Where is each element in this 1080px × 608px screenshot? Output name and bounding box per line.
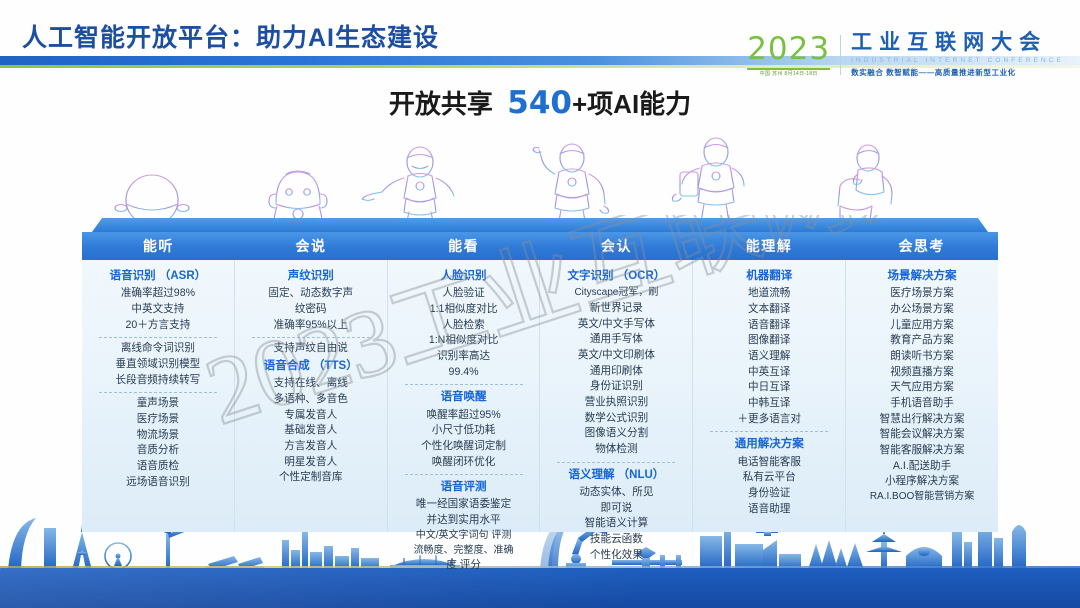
group-separator xyxy=(405,384,523,385)
capability-item[interactable]: 长段音频持续转写 xyxy=(116,373,201,389)
capability-item[interactable]: 中日互译 xyxy=(748,380,790,396)
capability-item[interactable]: 准确率超过98% xyxy=(121,286,195,302)
robot-6 xyxy=(832,145,892,228)
group-title: 场景解决方案 xyxy=(888,268,957,285)
capability-item[interactable]: 音质分析 xyxy=(137,443,179,459)
table-header-6[interactable]: 会思考 xyxy=(845,232,998,260)
capability-item[interactable]: 智能会议解决方案 xyxy=(880,427,965,443)
robot-5 xyxy=(672,138,744,228)
group-separator xyxy=(405,474,523,475)
capability-item[interactable]: 医疗场景 xyxy=(137,412,179,428)
capability-item[interactable]: 智能语义计算 xyxy=(585,516,649,532)
table-header-5[interactable]: 能理解 xyxy=(693,232,846,260)
group-separator xyxy=(99,392,217,393)
group-title: 语音评测 xyxy=(441,479,487,496)
capability-item[interactable]: 医疗场景方案 xyxy=(890,286,954,302)
capability-item[interactable]: 明星发音人 xyxy=(284,455,337,471)
group-separator xyxy=(710,431,828,432)
capability-item[interactable]: 中英文支持 xyxy=(131,302,184,318)
footer-band xyxy=(0,568,1080,608)
capability-item[interactable]: 固定、动态数字声 xyxy=(268,286,353,302)
group-title: 语音合成 （TTS） xyxy=(264,358,358,375)
capability-item[interactable]: 物流场景 xyxy=(137,428,179,444)
table-header-2[interactable]: 会说 xyxy=(235,232,388,260)
table-header-1[interactable]: 能听 xyxy=(82,232,235,260)
capability-item[interactable]: 办公场景方案 xyxy=(890,302,954,318)
page-title: 人工智能开放平台：助力AI生态建设 xyxy=(22,18,439,54)
capability-item[interactable]: 通用手写体 xyxy=(590,332,643,348)
capability-item[interactable]: RA.I.BOO智能营销方案 xyxy=(870,490,974,505)
table-header-row: 能听会说能看会认能理解会思考 xyxy=(82,232,998,260)
capability-item[interactable]: 个性化唤醒词定制 xyxy=(421,439,506,455)
capability-item[interactable]: 纹密码 xyxy=(295,302,327,318)
capability-item[interactable]: 唤醒率超过95% xyxy=(426,408,500,424)
capability-item[interactable]: 语音质检 xyxy=(137,459,179,475)
footer-sheen xyxy=(0,568,1080,608)
group-separator xyxy=(252,337,370,338)
capability-item[interactable]: 文本翻译 xyxy=(748,302,790,318)
capability-item[interactable]: 身份验证 xyxy=(748,486,790,502)
capability-item[interactable]: 图像翻译 xyxy=(748,333,790,349)
table-column-2: 声纹识别固定、动态数字声纹密码准确率95%以上支持声纹自由说语音合成 （TTS）… xyxy=(235,260,388,532)
capability-item[interactable]: 私有云平台 xyxy=(743,470,796,486)
capability-item[interactable]: 中文/英文字词句 评测 xyxy=(416,529,512,544)
capability-item[interactable]: 地道流畅 xyxy=(748,286,790,302)
capability-item[interactable]: 营业执照识别 xyxy=(585,395,649,411)
capability-item[interactable]: 智能客服解决方案 xyxy=(880,443,965,459)
logo-year-text: 2023 xyxy=(747,34,830,65)
capability-item[interactable]: 朗读听书方案 xyxy=(890,349,954,365)
robot-illustrations xyxy=(0,104,1080,228)
capability-item[interactable]: 即可说 xyxy=(601,501,633,517)
capability-item[interactable]: 手机语音助手 xyxy=(890,396,954,412)
group-title: 文字识别 （OCR） xyxy=(568,268,666,285)
capability-item[interactable]: 童声场景 xyxy=(137,396,179,412)
slide-canvas: 人工智能开放平台：助力AI生态建设 2023 中国·苏州 8月14日-18日 工… xyxy=(0,0,1080,608)
capability-item[interactable]: 多语种、多音色 xyxy=(274,392,348,408)
capability-item[interactable]: 并达到实用水平 xyxy=(426,513,500,529)
logo-name-cn: 工业互联网大会 xyxy=(851,32,1064,54)
group-separator xyxy=(557,462,675,463)
capability-item[interactable]: 度 评分 xyxy=(446,558,481,574)
capability-item[interactable]: 专属发音人 xyxy=(284,408,337,424)
capability-item[interactable]: 小程序解决方案 xyxy=(885,474,959,490)
capability-item[interactable]: 1:1相似度对比 xyxy=(430,302,498,318)
capability-item[interactable]: 中韩互译 xyxy=(748,396,790,412)
capability-item[interactable]: 身份证识别 xyxy=(590,379,643,395)
group-title: 语音识别 （ASR） xyxy=(110,268,206,285)
robot-2 xyxy=(269,171,327,226)
logo-name-block: 工业互联网大会 INDUSTRIAL INTERNET CONFERENCE 数… xyxy=(851,32,1064,78)
capability-item[interactable]: 视频直播方案 xyxy=(890,365,954,381)
table-top-deck xyxy=(92,218,988,232)
capability-item[interactable]: 技能云函数 xyxy=(590,532,643,548)
robot-3 xyxy=(362,147,454,228)
capability-item[interactable]: 个性化效果 xyxy=(590,548,643,564)
robot-4 xyxy=(533,144,609,228)
capability-item[interactable]: 1:N相似度对比 xyxy=(429,333,498,349)
capability-item[interactable]: 语音助理 xyxy=(748,502,790,518)
robots-svg xyxy=(0,104,1080,228)
table-column-1: 语音识别 （ASR）准确率超过98%中英文支持20＋方言支持离线命令词识别垂直领… xyxy=(82,260,235,532)
capability-item[interactable]: 支持在线、离线 xyxy=(274,376,348,392)
conference-logo: 2023 中国·苏州 8月14日-18日 工业互联网大会 INDUSTRIAL … xyxy=(747,27,1064,83)
capability-table: 能听会说能看会认能理解会思考 语音识别 （ASR）准确率超过98%中英文支持20… xyxy=(82,232,998,532)
capability-item[interactable]: 教育产品方案 xyxy=(890,333,954,349)
capability-item[interactable]: 英文/中文手写体 xyxy=(578,317,655,333)
capability-item[interactable]: 离线命令词识别 xyxy=(121,341,195,357)
capability-item[interactable]: 方言发音人 xyxy=(284,439,337,455)
group-separator xyxy=(99,337,217,338)
group-title: 声纹识别 xyxy=(288,268,334,285)
capability-item[interactable]: 新世界记录 xyxy=(590,301,643,317)
group-title: 语音唤醒 xyxy=(441,389,487,406)
group-title: 人脸识别 xyxy=(441,268,487,285)
capability-item[interactable]: 人脸验证 xyxy=(442,286,484,302)
logo-divider xyxy=(840,35,841,75)
capability-item[interactable]: 语音翻译 xyxy=(748,318,790,334)
capability-item[interactable]: 智慧出行解决方案 xyxy=(880,412,965,428)
capability-item[interactable]: 儿童应用方案 xyxy=(890,318,954,334)
logo-year-subtitle: 中国·苏州 8月14日-18日 xyxy=(760,70,818,77)
group-title: 机器翻译 xyxy=(746,268,792,285)
capability-item[interactable]: ＋更多语言对 xyxy=(737,412,801,428)
table-column-6: 场景解决方案医疗场景方案办公场景方案儿童应用方案教育产品方案朗读听书方案视频直播… xyxy=(846,260,998,532)
capability-item[interactable]: A.I.配送助手 xyxy=(893,459,951,475)
capability-item[interactable]: Cityscape冠军，刷 xyxy=(574,286,658,301)
capability-item[interactable]: 支持声纹自由说 xyxy=(274,341,348,357)
capability-item[interactable]: 流畅度、完整度、准确 xyxy=(414,544,514,559)
capability-item[interactable]: 数学公式识别 xyxy=(585,411,649,427)
table-header-3[interactable]: 能看 xyxy=(387,232,540,260)
table-body-row: 语音识别 （ASR）准确率超过98%中英文支持20＋方言支持离线命令词识别垂直领… xyxy=(82,260,998,532)
capability-item[interactable]: 图像语义分割 xyxy=(585,426,649,442)
table-header-4[interactable]: 会认 xyxy=(540,232,693,260)
table-column-3: 人脸识别人脸验证1:1相似度对比人脸检索1:N相似度对比识别率高达99.4%语音… xyxy=(388,260,541,532)
capability-item[interactable]: 基础发音人 xyxy=(284,423,337,439)
capability-item[interactable]: 99.4% xyxy=(449,365,479,381)
capability-item[interactable]: 中英互译 xyxy=(748,365,790,381)
capability-item[interactable]: 准确率95%以上 xyxy=(274,318,348,334)
capability-item[interactable]: 电话智能客服 xyxy=(737,455,801,471)
capability-item[interactable]: 通用印刷体 xyxy=(590,364,643,380)
group-title: 通用解决方案 xyxy=(735,436,804,453)
capability-item[interactable]: 天气应用方案 xyxy=(890,380,954,396)
logo-year-underline: 2023 xyxy=(747,31,830,70)
logo-tagline: 数实融合 数智赋能——高质量推进新型工业化 xyxy=(851,67,1064,78)
capability-item[interactable]: 英文/中文印刷体 xyxy=(578,348,655,364)
capability-item[interactable]: 动态实体、所见 xyxy=(579,485,653,501)
logo-name-en: INDUSTRIAL INTERNET CONFERENCE xyxy=(851,57,1064,64)
capability-item[interactable]: 远场语音识别 xyxy=(126,475,190,491)
capability-item[interactable]: 小尺寸低功耗 xyxy=(432,423,496,439)
capability-item[interactable]: 人脸检索 xyxy=(442,318,484,334)
capability-item[interactable]: 识别率高达 xyxy=(437,349,490,365)
capability-item[interactable]: 唤醒闭环优化 xyxy=(432,455,496,471)
capability-item[interactable]: 个性定制音库 xyxy=(279,470,343,486)
table-column-4: 文字识别 （OCR）Cityscape冠军，刷新世界记录英文/中文手写体通用手写… xyxy=(540,260,693,532)
capability-item[interactable]: 唯一经国家语委鉴定 xyxy=(416,497,511,513)
capability-item[interactable]: 20＋方言支持 xyxy=(126,318,191,334)
group-title: 语义理解 （NLU） xyxy=(568,467,664,484)
table-column-5: 机器翻译地道流畅文本翻译语音翻译图像翻译语义理解中英互译中日互译中韩互译＋更多语… xyxy=(693,260,846,532)
capability-item[interactable]: 语义理解 xyxy=(748,349,790,365)
capability-item[interactable]: 物体检测 xyxy=(595,442,637,458)
logo-year-block: 2023 中国·苏州 8月14日-18日 xyxy=(747,34,840,77)
capability-item[interactable]: 垂直领域识别模型 xyxy=(116,357,201,373)
